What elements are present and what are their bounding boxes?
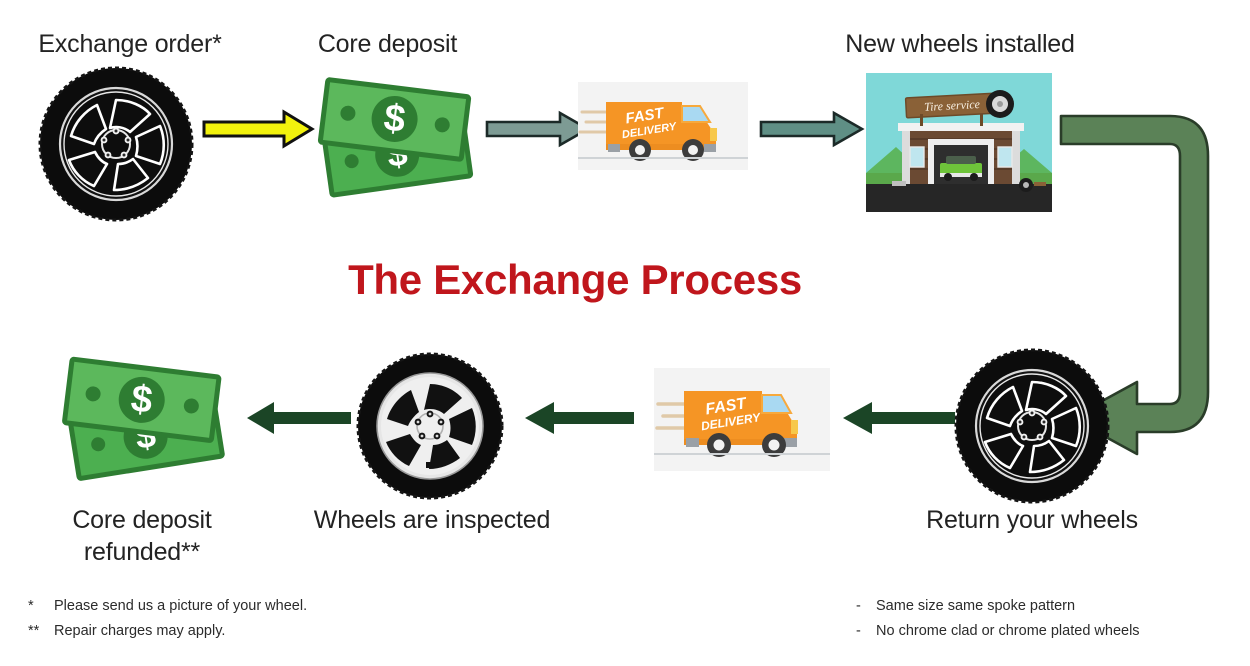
arrow-order-to-deposit bbox=[200, 108, 318, 150]
footnote-item: * Please send us a picture of your wheel… bbox=[28, 594, 448, 619]
delivery-truck-icon: FAST DELIVERY bbox=[578, 82, 748, 170]
requirement-marker: - bbox=[856, 594, 876, 619]
silver-wheel-icon bbox=[356, 352, 504, 500]
requirements-right: - Same size same spoke pattern - No chro… bbox=[856, 594, 1250, 644]
footnote-item: ** Repair charges may apply. bbox=[28, 619, 448, 644]
exchange-process-diagram: Exchange order* Core deposit New wheels … bbox=[0, 0, 1250, 666]
cash-money-refund-icon: $ $ bbox=[52, 352, 232, 490]
step-label-core-deposit-refunded: Core deposit refunded** bbox=[26, 504, 258, 568]
step-label-wheels-inspected: Wheels are inspected bbox=[292, 504, 572, 536]
arrow-shipping-to-inspect bbox=[522, 398, 637, 438]
arrow-shipping-to-install bbox=[758, 110, 866, 148]
requirement-item: - No chrome clad or chrome plated wheels bbox=[856, 619, 1250, 644]
alloy-wheel-icon bbox=[38, 66, 194, 222]
footnote-marker: ** bbox=[28, 619, 54, 644]
step-label-core-deposit: Core deposit bbox=[275, 28, 500, 60]
arrow-deposit-to-shipping bbox=[484, 110, 592, 148]
tire-service-shop-icon: Tire service bbox=[866, 73, 1052, 212]
step-label-exchange-order: Exchange order* bbox=[0, 28, 260, 60]
requirement-marker: - bbox=[856, 619, 876, 644]
footnote-text: Please send us a picture of your wheel. bbox=[54, 594, 307, 619]
alloy-wheel-return-icon bbox=[954, 348, 1110, 504]
requirement-text: No chrome clad or chrome plated wheels bbox=[876, 619, 1140, 644]
cash-money-icon: $ $ bbox=[308, 72, 480, 207]
arrow-return-to-shipping bbox=[840, 398, 958, 438]
arrow-inspect-to-refund bbox=[244, 398, 354, 438]
step-label-return-your-wheels: Return your wheels bbox=[890, 504, 1174, 536]
footnote-text: Repair charges may apply. bbox=[54, 619, 225, 644]
delivery-truck-return-icon: FAST DELIVERY bbox=[654, 368, 830, 471]
step-label-new-wheels-installed: New wheels installed bbox=[805, 28, 1115, 60]
shop-sign-text: Tire service bbox=[924, 97, 981, 114]
footnote-marker: * bbox=[28, 594, 54, 619]
footnotes-left: * Please send us a picture of your wheel… bbox=[28, 594, 448, 644]
requirement-item: - Same size same spoke pattern bbox=[856, 594, 1250, 619]
requirement-text: Same size same spoke pattern bbox=[876, 594, 1075, 619]
page-title: The Exchange Process bbox=[225, 256, 925, 304]
